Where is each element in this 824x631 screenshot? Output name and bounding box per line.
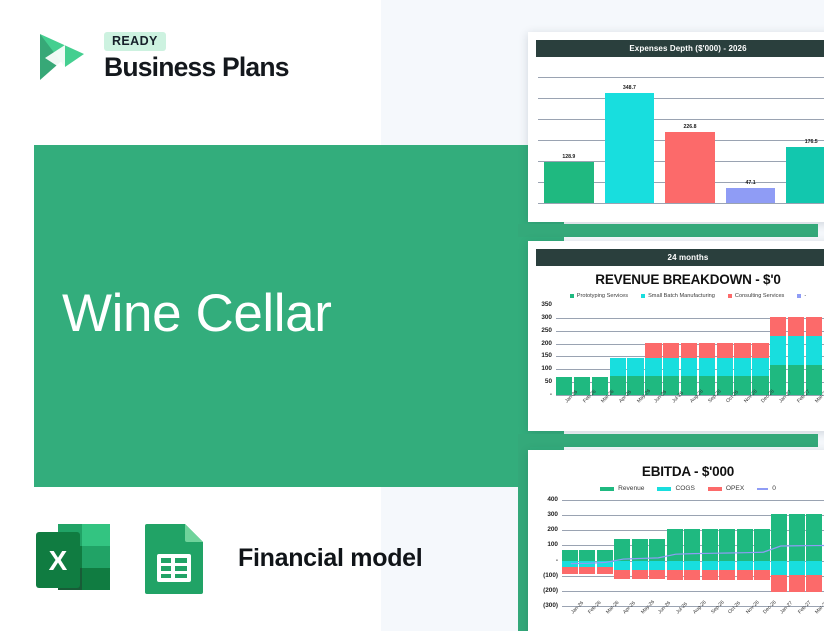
legend-swatch xyxy=(797,294,801,298)
legend-item: Small Batch Manufacturing xyxy=(641,293,715,299)
play-triangle-logo-icon xyxy=(34,28,90,86)
x-tick: Dec-26 xyxy=(752,398,768,408)
legend-swatch xyxy=(708,487,722,491)
bar-segment xyxy=(752,358,768,375)
bar[interactable] xyxy=(699,305,715,395)
bar-segment xyxy=(734,343,750,358)
x-tick: Jan-27 xyxy=(771,609,787,619)
bar-segment xyxy=(734,358,750,375)
bar-value-label: 348.7 xyxy=(623,85,636,91)
legend-swatch xyxy=(570,294,574,298)
bar[interactable] xyxy=(734,305,750,395)
x-tick: Jul-26 xyxy=(667,609,683,619)
bar-group: 128.9348.7226.847.1176.5 xyxy=(544,77,824,203)
bar[interactable] xyxy=(645,305,661,395)
legend-item: COGS xyxy=(657,485,694,492)
x-axis-labels: Jan-26Feb-26Mar-26Apr-26May-26Jun-26Jul-… xyxy=(556,398,824,408)
bar-value-label: 47.1 xyxy=(746,180,756,186)
legend-swatch xyxy=(757,488,768,490)
x-tick: Feb-26 xyxy=(579,609,595,619)
legend-item: Consulting Services xyxy=(728,293,784,299)
x-tick: Sep-26 xyxy=(699,398,715,408)
excel-file-icon: X xyxy=(32,518,116,598)
bar[interactable] xyxy=(752,305,768,395)
bar[interactable] xyxy=(681,305,697,395)
bar-segment xyxy=(627,358,643,375)
bar-value-label: 226.8 xyxy=(684,124,697,130)
x-tick: Apr-26 xyxy=(614,609,630,619)
ebitda-plot-area: 400300200100-(100)(200)(300)Jan-26Feb-26… xyxy=(534,496,824,631)
x-tick: Sep-26 xyxy=(702,609,718,619)
bar-segment xyxy=(663,343,679,358)
bar-segment xyxy=(645,358,661,375)
legend-swatch xyxy=(641,294,645,298)
x-tick: Feb-26 xyxy=(574,398,590,408)
brand-logo: READY Business Plans xyxy=(34,28,289,86)
svg-text:X: X xyxy=(49,545,68,576)
bar[interactable]: 226.8 xyxy=(665,132,715,203)
legend-label: COGS xyxy=(675,485,694,492)
x-tick: May-26 xyxy=(627,398,643,408)
chart-legend-revenue: Prototyping ServicesSmall Batch Manufact… xyxy=(528,293,824,299)
green-accent-strip-1 xyxy=(518,224,818,237)
legend-label: Small Batch Manufacturing xyxy=(648,293,715,299)
bar[interactable] xyxy=(770,305,786,395)
x-axis-labels: Jan-26Feb-26Mar-26Apr-26May-26Jun-26Jul-… xyxy=(562,609,824,619)
y-axis-label: 350 xyxy=(534,301,552,308)
bar[interactable] xyxy=(788,305,804,395)
bar-segment xyxy=(806,317,822,336)
x-tick: Oct-26 xyxy=(717,398,733,408)
x-tick: Jun-26 xyxy=(645,398,661,408)
bar[interactable] xyxy=(806,305,822,395)
green-accent-strip-2 xyxy=(518,434,818,447)
x-tick: Jan-26 xyxy=(562,609,578,619)
chart-card-ebitda[interactable]: EBITDA - $'000 RevenueCOGSOPEX0 40030020… xyxy=(528,450,824,631)
bar[interactable] xyxy=(592,305,608,395)
bar-group xyxy=(556,305,824,395)
ready-badge: READY xyxy=(104,32,166,51)
legend-item: Prototyping Services xyxy=(570,293,628,299)
x-tick: Nov-26 xyxy=(737,609,753,619)
bar-segment xyxy=(788,336,804,365)
bar-segment xyxy=(681,358,697,375)
bar-value-label: 128.9 xyxy=(562,154,575,160)
x-tick: Dec-26 xyxy=(754,609,770,619)
x-tick: Aug-26 xyxy=(684,609,700,619)
x-tick: Aug-26 xyxy=(681,398,697,408)
x-tick: Oct-26 xyxy=(719,609,735,619)
legend-swatch xyxy=(728,294,732,298)
legend-label: OPEX xyxy=(726,485,744,492)
footer-row: X Financial model xyxy=(32,518,422,598)
bar-segment xyxy=(770,336,786,365)
google-sheets-icon xyxy=(133,518,217,598)
x-tick: Feb-27 xyxy=(789,609,805,619)
chart-title-ebitda: EBITDA - $'000 xyxy=(528,464,824,479)
bar[interactable] xyxy=(556,305,572,395)
bar-segment xyxy=(663,358,679,375)
y-axis-label: 150 xyxy=(534,352,552,359)
y-axis-label: - xyxy=(534,391,552,398)
chart-card-revenue-breakdown[interactable]: 24 months REVENUE BREAKDOWN - $'0 Protot… xyxy=(528,241,824,431)
x-tick: Apr-26 xyxy=(610,398,626,408)
bar[interactable]: 176.5 xyxy=(786,147,824,203)
chart-legend-ebitda: RevenueCOGSOPEX0 xyxy=(528,485,824,492)
legend-label: Consulting Services xyxy=(735,293,784,299)
x-tick: Mar-26 xyxy=(592,398,608,408)
chart-title-revenue: REVENUE BREAKDOWN - $'0 xyxy=(528,272,824,287)
y-axis-label: 100 xyxy=(534,365,552,372)
bar-segment xyxy=(681,343,697,358)
bar[interactable] xyxy=(717,305,733,395)
bar[interactable] xyxy=(663,305,679,395)
y-axis-label: 200 xyxy=(534,340,552,347)
x-tick: Mar-27 xyxy=(806,609,822,619)
bar-segment xyxy=(788,317,804,336)
x-tick: Feb-27 xyxy=(788,398,804,408)
legend-swatch xyxy=(657,487,671,491)
bar[interactable] xyxy=(574,305,590,395)
y-axis-label: 300 xyxy=(534,314,552,321)
y-axis-label: 50 xyxy=(534,378,552,385)
bar[interactable]: 128.9 xyxy=(544,162,594,203)
bar-segment xyxy=(699,358,715,375)
legend-item: - xyxy=(797,293,806,299)
hero-panel: Wine Cellar xyxy=(34,145,564,487)
x-tick: Jan-27 xyxy=(770,398,786,408)
legend-label: Prototyping Services xyxy=(577,293,628,299)
bar-segment xyxy=(717,343,733,358)
bar-segment xyxy=(717,358,733,375)
bar-segment xyxy=(610,358,626,375)
bar-segment xyxy=(770,317,786,336)
x-tick: Jul-26 xyxy=(663,398,679,408)
bar-value-label: 176.5 xyxy=(805,139,818,145)
x-tick: Mar-27 xyxy=(806,398,822,408)
x-tick: Nov-26 xyxy=(734,398,750,408)
bar-segment xyxy=(806,336,822,365)
bar-segment xyxy=(645,343,661,358)
x-tick: Jun-26 xyxy=(649,609,665,619)
legend-swatch xyxy=(600,487,614,491)
chart-header-expenses: Expenses Depth ($'000) - 2026 xyxy=(536,40,824,57)
chart-card-expenses-depth[interactable]: Expenses Depth ($'000) - 2026 128.9348.7… xyxy=(528,32,824,222)
page-title: Wine Cellar xyxy=(62,285,332,343)
bar-segment xyxy=(752,343,768,358)
footer-label: Financial model xyxy=(238,544,422,573)
bar[interactable]: 47.1 xyxy=(726,188,776,203)
y-axis-label: 250 xyxy=(534,327,552,334)
x-tick: May-26 xyxy=(632,609,648,619)
x-tick: Mar-26 xyxy=(597,609,613,619)
bar[interactable] xyxy=(627,305,643,395)
legend-label: - xyxy=(804,293,806,299)
revenue-plot-area: 35030025020015010050-Jan-26Feb-26Mar-26A… xyxy=(534,301,824,421)
x-tick: Jan-26 xyxy=(556,398,572,408)
legend-label: Revenue xyxy=(618,485,644,492)
chart-header-revenue: 24 months xyxy=(536,249,824,266)
legend-label: 0 xyxy=(772,485,776,492)
expenses-plot-area: 128.9348.7226.847.1176.5 xyxy=(538,67,824,217)
gridline xyxy=(538,203,824,204)
bar[interactable] xyxy=(610,305,626,395)
legend-item: OPEX xyxy=(708,485,744,492)
bar[interactable]: 348.7 xyxy=(605,93,655,203)
brand-name: Business Plans xyxy=(104,54,289,82)
bar-segment xyxy=(699,343,715,358)
legend-item: 0 xyxy=(757,485,776,492)
legend-item: Revenue xyxy=(600,485,644,492)
